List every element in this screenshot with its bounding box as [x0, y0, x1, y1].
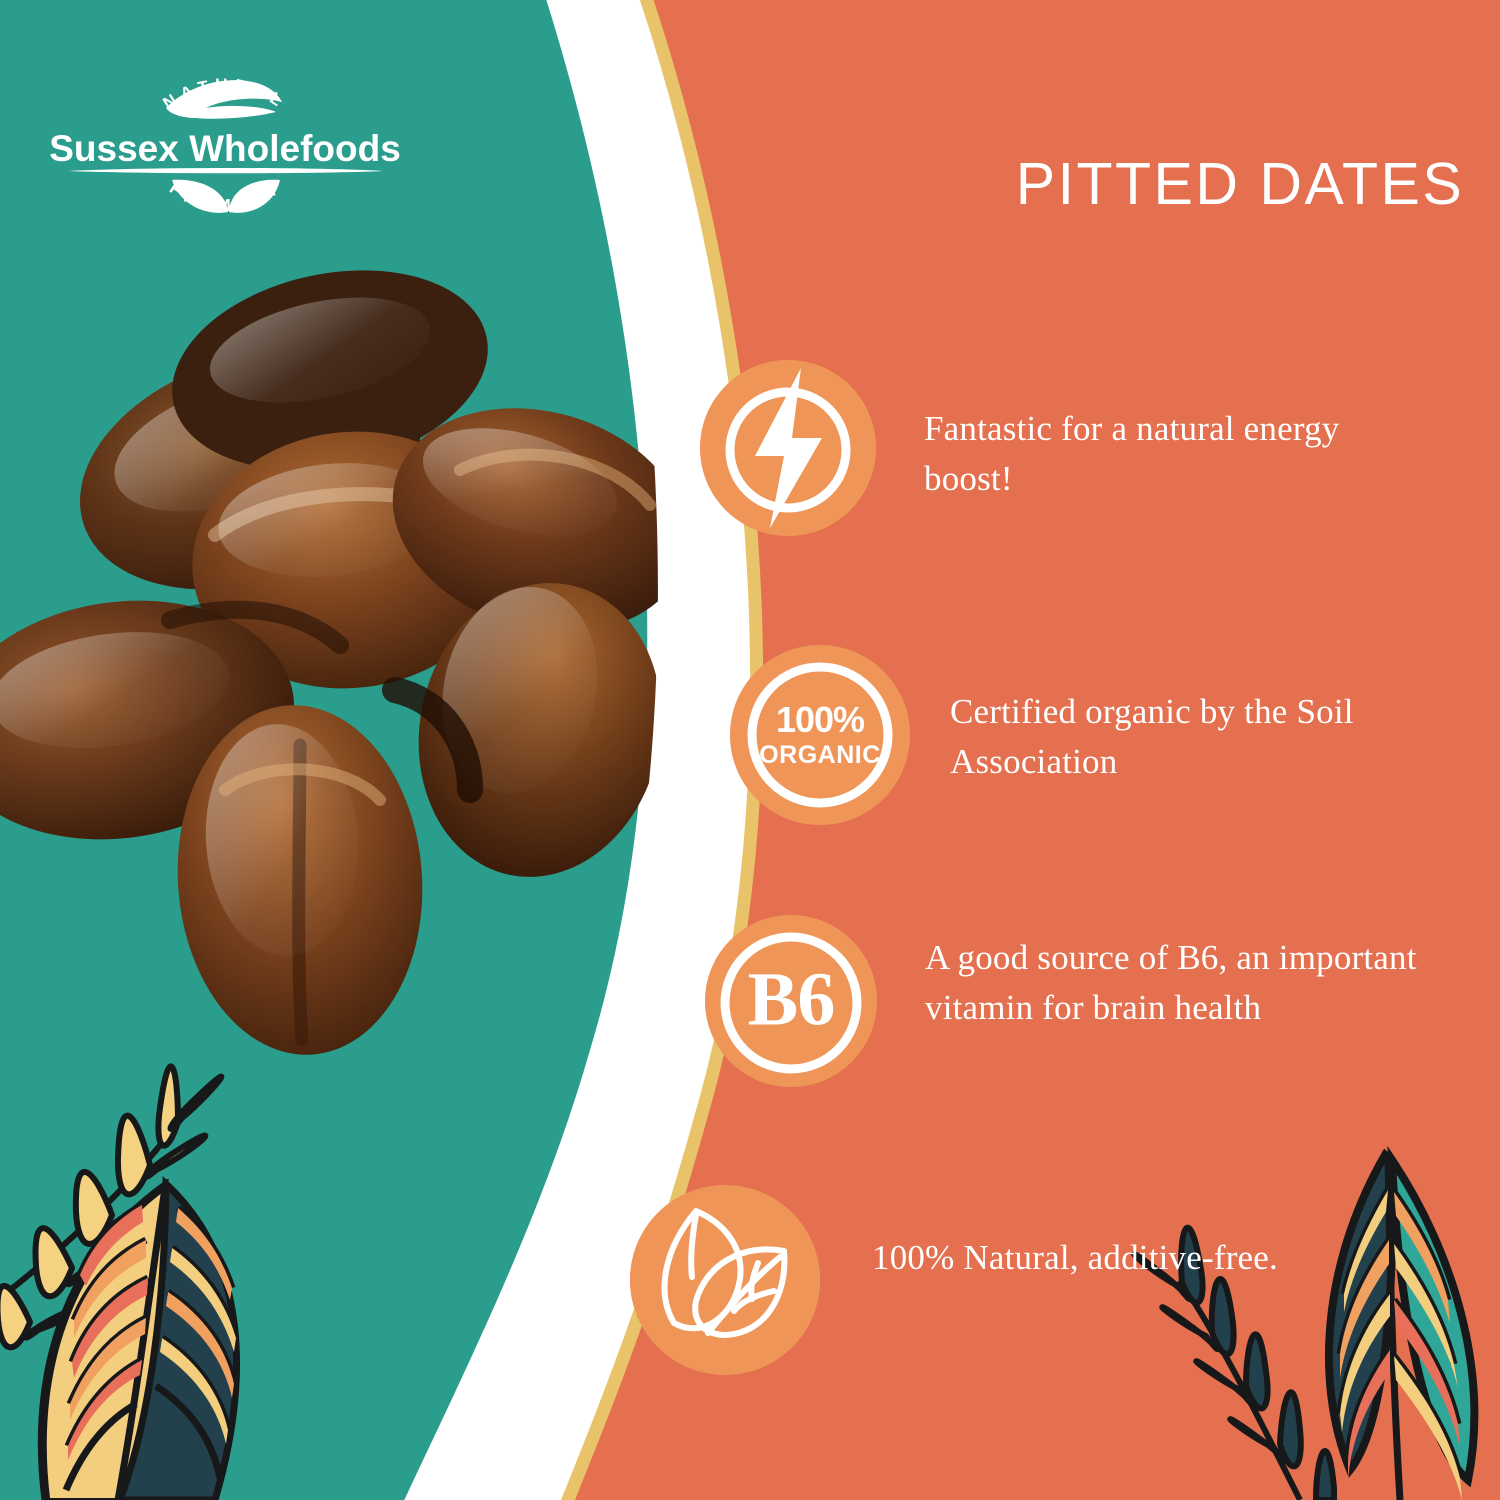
- benefit-text-energy: Fantastic for a natural energy boost!: [924, 404, 1394, 503]
- organic-badge-text: 100% ORGANIC: [759, 702, 881, 768]
- page-title: PITTED DATES: [1000, 150, 1480, 218]
- vitamin-b6-icon: B6: [705, 915, 877, 1087]
- 100-percent-organic-icon: 100% ORGANIC: [730, 645, 910, 825]
- benefit-row-energy: Fantastic for a natural energy boost!: [700, 360, 1394, 536]
- benefit-text-natural: 100% Natural, additive-free.: [872, 1233, 1302, 1283]
- product-infographic: NATURAL PREMIUM Sussex Wholefoods PITTED…: [0, 0, 1500, 1500]
- benefit-row-organic: 100% ORGANIC Certified organic by the So…: [730, 645, 1430, 825]
- two-leaves-icon: [630, 1185, 820, 1375]
- benefit-text-organic: Certified organic by the Soil Associatio…: [950, 687, 1430, 786]
- benefit-row-natural: 100% Natural, additive-free.: [630, 1185, 1302, 1375]
- brand-logo-mark: NATURAL PREMIUM Sussex Wholefoods: [30, 40, 420, 240]
- organic-badge-label: ORGANIC: [759, 743, 881, 768]
- striped-leaf-right: [1329, 1155, 1474, 1500]
- benefit-row-b6: B6 A good source of B6, an important vit…: [705, 915, 1425, 1087]
- logo-wordmark: Sussex Wholefoods: [49, 128, 401, 169]
- b6-badge-label: B6: [748, 961, 835, 1037]
- lightning-bolt-icon: [700, 360, 876, 536]
- benefit-text-b6: A good source of B6, an important vitami…: [925, 933, 1425, 1032]
- brand-logo: NATURAL PREMIUM Sussex Wholefoods: [30, 40, 420, 240]
- organic-badge-percent: 100%: [759, 702, 881, 738]
